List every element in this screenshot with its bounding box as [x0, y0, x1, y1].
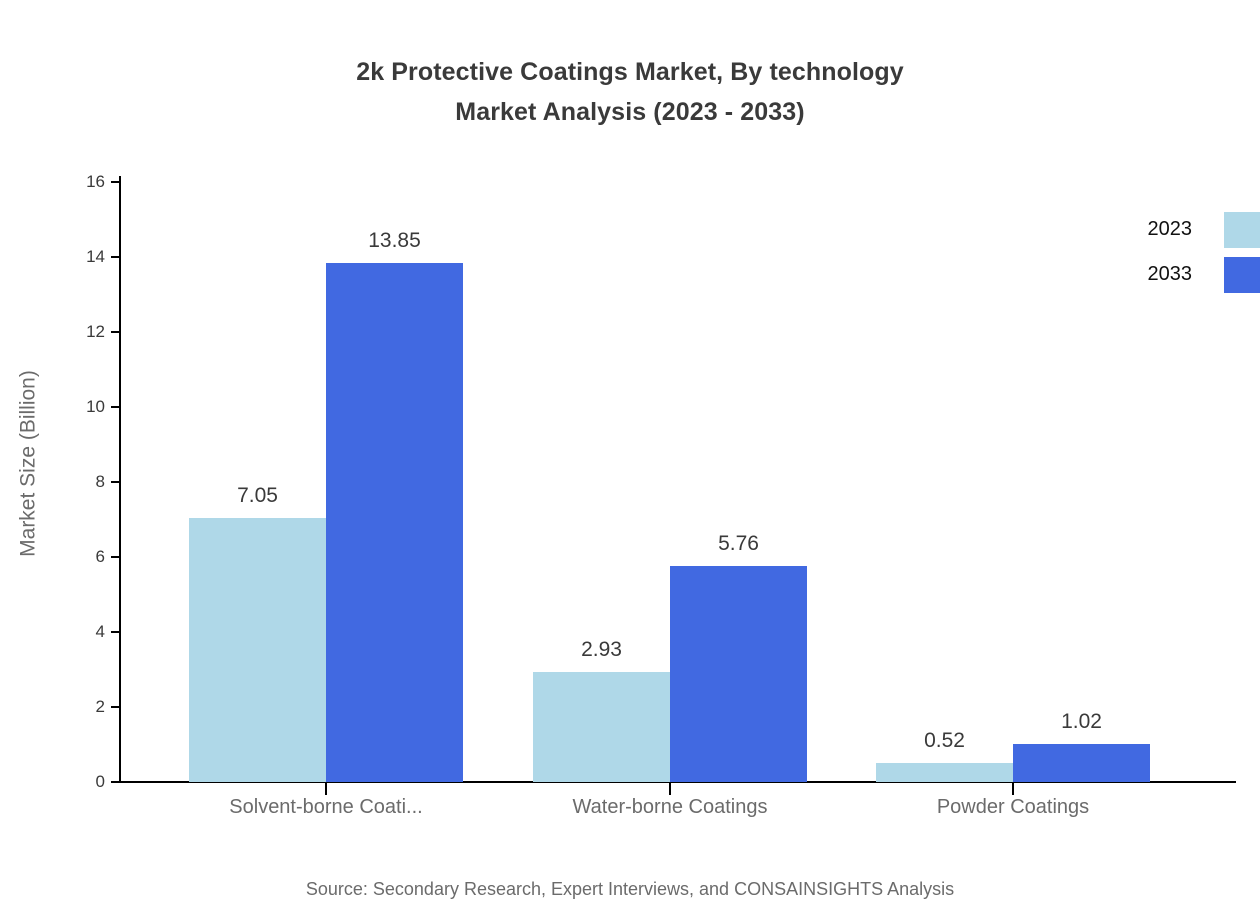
legend-swatch-2033 — [1224, 257, 1260, 293]
bar-2033-2[interactable] — [1013, 744, 1150, 782]
y-tick-label-10: 10 — [45, 398, 105, 415]
bar-2023-0[interactable] — [189, 518, 326, 782]
source-note: Source: Secondary Research, Expert Inter… — [0, 878, 1260, 900]
y-tick-label-2: 2 — [45, 698, 105, 715]
y-tick-2 — [111, 706, 120, 708]
y-tick-label-4: 4 — [45, 623, 105, 640]
y-tick-label-8: 8 — [45, 473, 105, 490]
y-tick-8 — [111, 481, 120, 483]
bar-2023-2[interactable] — [876, 763, 1013, 783]
y-tick-4 — [111, 631, 120, 633]
bar-2033-0[interactable] — [326, 263, 463, 782]
bar-value-label-2033-0: 13.85 — [306, 230, 483, 251]
y-tick-label-12: 12 — [45, 323, 105, 340]
y-tick-label-14: 14 — [45, 248, 105, 265]
legend-label-2023: 2023 — [1100, 219, 1192, 239]
bar-2033-1[interactable] — [670, 566, 807, 782]
y-tick-16 — [111, 181, 120, 183]
bar-value-label-2023-1: 2.93 — [513, 639, 690, 660]
y-axis-line — [119, 176, 121, 783]
chart-title-line-2: Market Analysis (2023 - 2033) — [0, 92, 1260, 132]
x-tick-label-1: Water-borne Coatings — [510, 794, 830, 820]
chart-title: 2k Protective Coatings Market, By techno… — [0, 52, 1260, 132]
y-axis-title: Market Size (Billion) — [18, 144, 39, 784]
y-tick-10 — [111, 406, 120, 408]
bar-chart: 2k Protective Coatings Market, By techno… — [0, 0, 1260, 920]
y-tick-0 — [111, 781, 120, 783]
y-tick-label-6: 6 — [45, 548, 105, 565]
x-tick-label-0: Solvent-borne Coati... — [166, 794, 486, 820]
y-tick-14 — [111, 256, 120, 258]
bar-2023-1[interactable] — [533, 672, 670, 782]
y-tick-6 — [111, 556, 120, 558]
bar-value-label-2023-2: 0.52 — [856, 730, 1033, 751]
legend-item-2023[interactable]: 2023 — [1100, 212, 1260, 252]
legend-swatch-2023 — [1224, 212, 1260, 248]
legend: 2023 2033 — [1100, 212, 1260, 308]
y-tick-label-16: 16 — [45, 173, 105, 190]
bar-value-label-2033-1: 5.76 — [650, 533, 827, 554]
legend-label-2033: 2033 — [1100, 264, 1192, 284]
chart-title-line-1: 2k Protective Coatings Market, By techno… — [0, 52, 1260, 92]
y-tick-label-0: 0 — [45, 773, 105, 790]
y-tick-12 — [111, 331, 120, 333]
bar-value-label-2023-0: 7.05 — [169, 485, 346, 506]
bar-value-label-2033-2: 1.02 — [993, 711, 1170, 732]
x-tick-label-2: Powder Coatings — [853, 794, 1173, 820]
legend-item-2033[interactable]: 2033 — [1100, 257, 1260, 297]
